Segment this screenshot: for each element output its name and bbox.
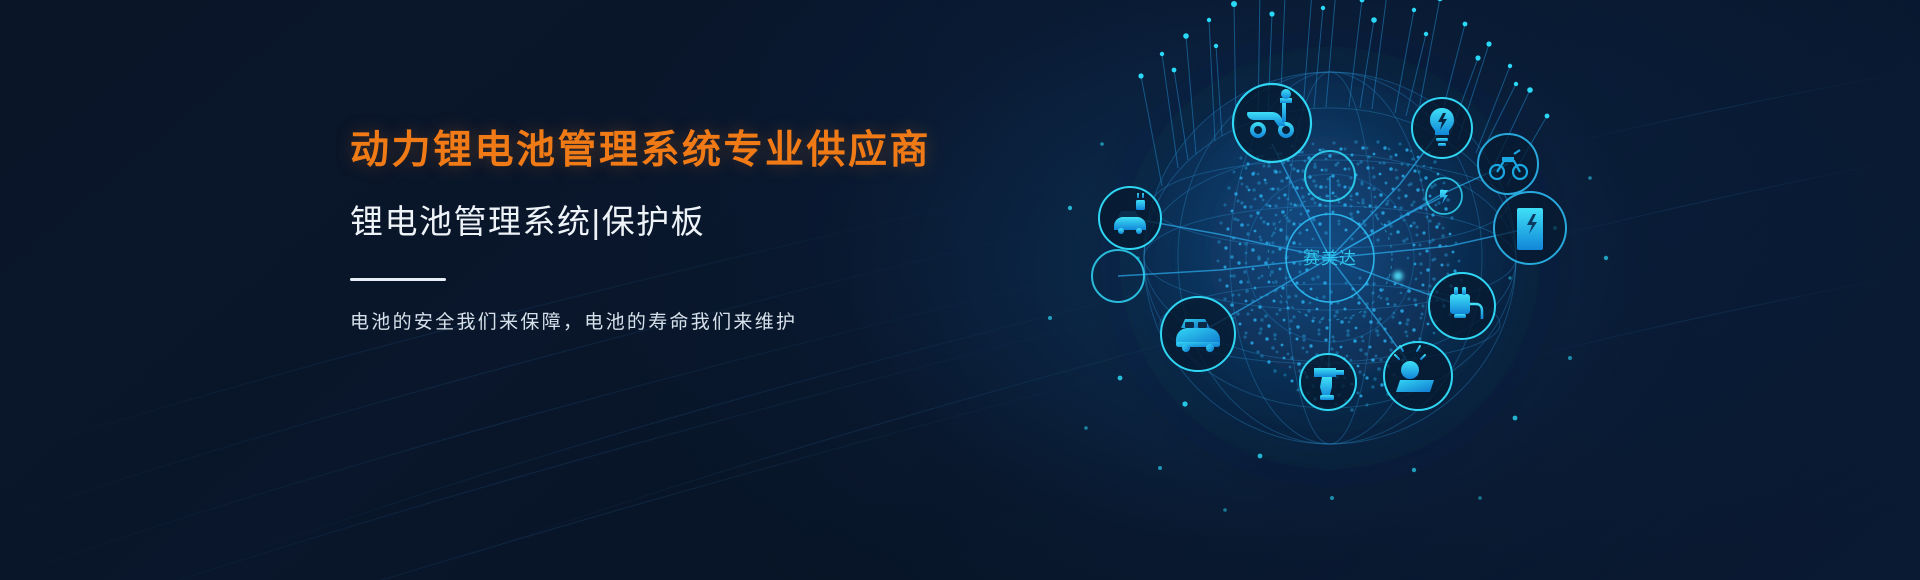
page-subtitle: 锂电池管理系统|保护板 [350,202,1110,242]
hero-copy: 动力锂电池管理系统专业供应商 锂电池管理系统|保护板 电池的安全我们来保障，电池… [350,128,1110,334]
node-plug[interactable] [1429,273,1495,339]
page-title: 动力锂电池管理系统专业供应商 [350,128,1110,174]
node-car-charging[interactable] [1099,187,1161,249]
node-power-drill[interactable] [1300,354,1356,410]
hub-sparkle [1393,271,1403,281]
node-scooter[interactable] [1233,84,1311,162]
node-solar-lamp[interactable] [1384,342,1452,410]
iot-network-globe: 赛美达 [1010,0,1650,580]
node-phone-battery[interactable] [1494,192,1566,264]
node-car[interactable] [1161,297,1235,371]
page-tagline: 电池的安全我们来保障，电池的寿命我们来维护 [350,307,1110,334]
node-lightbulb[interactable] [1412,98,1472,158]
divider-rule [350,278,446,281]
phone-battery-icon [1517,208,1543,250]
node-motorcycle[interactable] [1478,134,1538,194]
brand-core-label: 赛美达 [1303,248,1357,268]
hero-banner: 动力锂电池管理系统专业供应商 锂电池管理系统|保护板 电池的安全我们来保障，电池… [0,0,1920,580]
